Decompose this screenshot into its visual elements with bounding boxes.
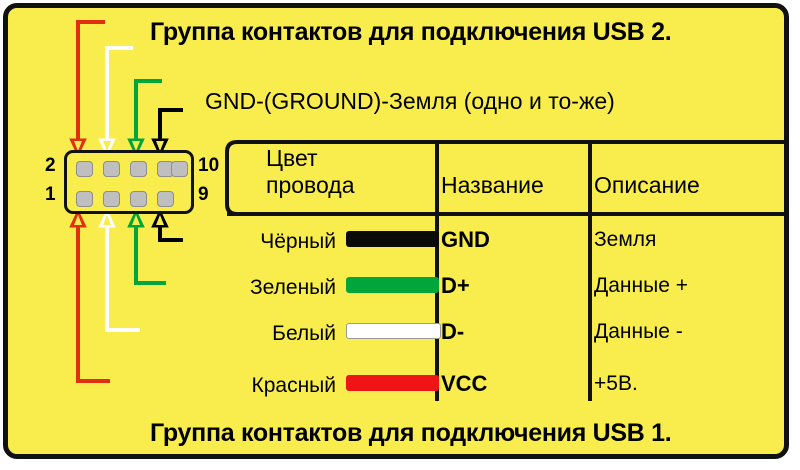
title-usb1: Группа контактов для подключения USB 1. [150,419,671,448]
table-row: Белый [176,322,336,346]
pin-bottom-2 [103,191,120,207]
signal-name-dplus: D+ [441,273,470,299]
signal-name-gnd: GND [441,227,490,253]
gnd-note-label: GND-(GROUND)-Земля (одно и то-же) [205,88,615,115]
signal-desc-dplus: Данные + [594,274,688,298]
pin-bottom-1 [76,191,93,207]
red-leader-bottom [70,210,110,381]
signal-name-vcc: VCC [441,371,487,397]
wire-swatch-green [346,277,439,293]
pin-top-1 [76,161,93,177]
pin-label-9: 9 [198,184,209,206]
pinout-table: Цвет провода Название Описание Чёрный GN… [226,139,784,401]
table-header-wire-color-line1: Цвет [266,145,355,172]
red-leader-top [70,22,105,156]
signal-desc-vcc: +5В. [594,372,638,396]
table-header-signal-name: Название [441,172,544,199]
signal-desc-gnd: Земля [594,228,656,252]
table-header-wire-color: Цвет провода [266,145,355,199]
pin-label-1: 1 [45,184,56,206]
signal-desc-dminus: Данные - [594,320,683,344]
wire-swatch-red [346,375,439,391]
pin-label-2: 2 [45,155,56,177]
pin-top-3 [130,161,147,177]
signal-name-dminus: D- [441,319,464,345]
pin-bottom-3 [130,191,147,207]
wire-swatch-black [346,231,439,247]
wire-swatch-white [346,323,441,339]
pin-bottom-4 [157,191,174,207]
table-row: Красный [176,374,336,398]
title-usb2: Группа контактов для подключения USB 2. [150,18,671,47]
usb-header-connector [64,150,194,214]
pin-label-10: 10 [198,155,219,177]
table-header-wire-color-line2: провода [266,172,355,199]
table-row: Чёрный [176,230,336,254]
diagram-root: Группа контактов для подключения USB 2. … [0,0,800,470]
pin-top-5 [171,161,188,177]
table-header-description: Описание [594,172,700,199]
table-row: Зеленый [176,276,336,300]
white-leader-bottom [99,210,140,330]
pin-top-2 [103,161,120,177]
